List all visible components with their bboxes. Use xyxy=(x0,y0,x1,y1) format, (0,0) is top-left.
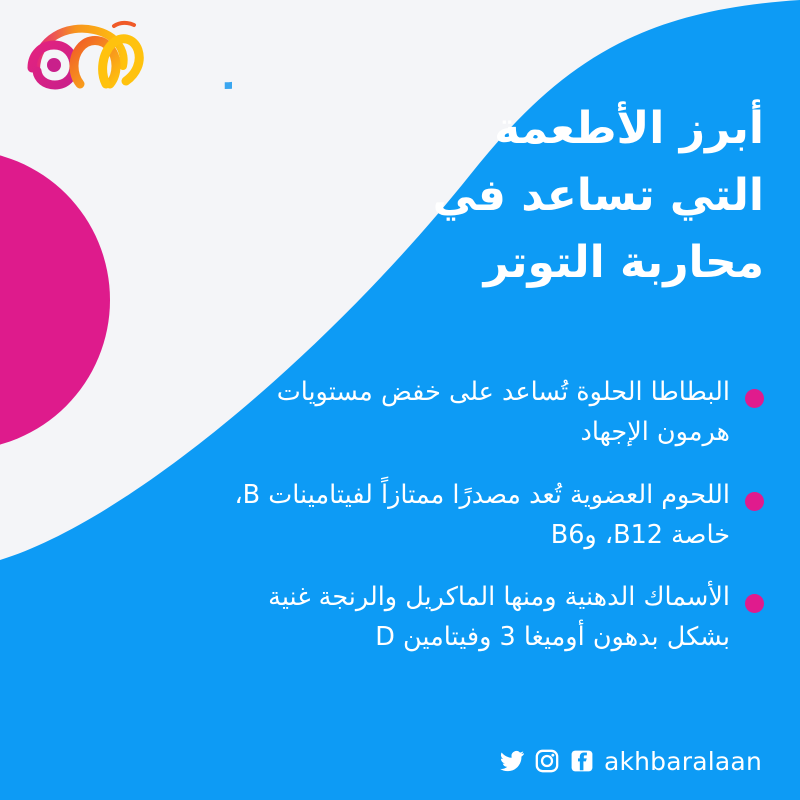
social-handle[interactable]: akhbaralaan xyxy=(604,749,762,774)
logo-mark-swirl xyxy=(32,23,139,85)
headline-line-3: محاربة التوتر xyxy=(344,230,764,297)
instagram-icon[interactable] xyxy=(534,748,560,774)
list-item: الأسماك الدهنية ومنها الماكريل والرنجة غ… xyxy=(210,577,770,658)
social-footer: akhbaralaan xyxy=(0,748,766,774)
headline-line-2: التي تساعد في xyxy=(344,163,764,230)
list-item: اللحوم العضوية تُعد مصدرًا ممتازاً لفيتا… xyxy=(210,475,770,556)
page-title: أبرز الأطعمة التي تساعد في محاربة التوتر xyxy=(344,96,764,297)
svg-text:أخبار: أخبار xyxy=(224,22,232,89)
list-item: البطاطا الحلوة تُساعد على خفض مستويات هر… xyxy=(210,372,770,453)
bullet-dot-icon xyxy=(745,389,764,408)
bullet-dot-icon xyxy=(745,492,764,511)
infographic-card: أخبار أبرز الأطعمة التي تساعد في محاربة … xyxy=(0,0,800,800)
akhbar-aan-logo[interactable]: أخبار xyxy=(22,14,232,92)
list-item-text: البطاطا الحلوة تُساعد على خفض مستويات هر… xyxy=(210,372,730,453)
list-item-text: الأسماك الدهنية ومنها الماكريل والرنجة غ… xyxy=(210,577,730,658)
bullet-list: البطاطا الحلوة تُساعد على خفض مستويات هر… xyxy=(210,372,770,680)
logo-svg: أخبار xyxy=(22,14,232,92)
facebook-icon[interactable] xyxy=(569,748,595,774)
logo-wordmark: أخبار xyxy=(224,22,232,89)
twitter-icon[interactable] xyxy=(499,748,525,774)
list-item-text: اللحوم العضوية تُعد مصدرًا ممتازاً لفيتا… xyxy=(210,475,730,556)
headline-line-1: أبرز الأطعمة xyxy=(344,96,764,163)
bullet-dot-icon xyxy=(745,594,764,613)
